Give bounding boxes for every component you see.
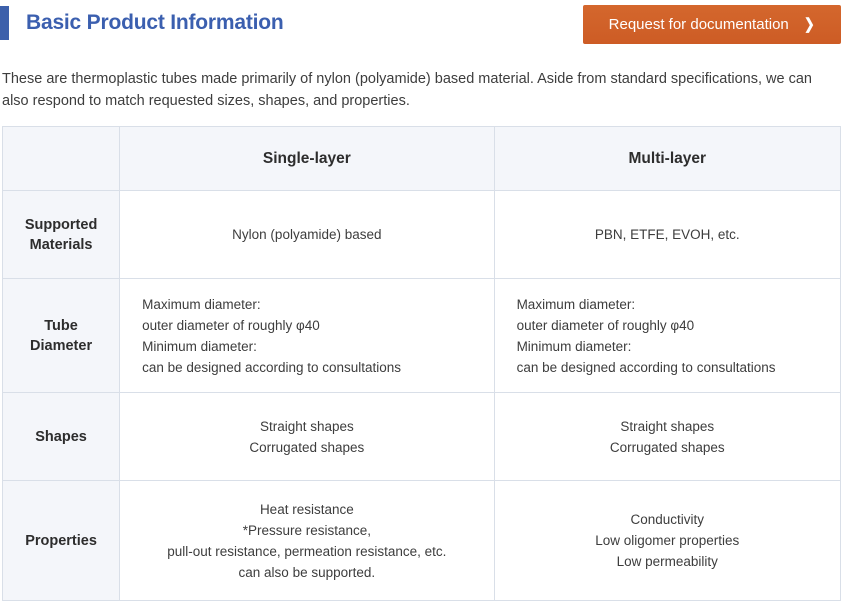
cell-supported-materials-single: Nylon (polyamide) based xyxy=(120,191,494,279)
cell-properties-single: Heat resistance*Pressure resistance,pull… xyxy=(120,481,494,601)
text-line: Low permeability xyxy=(495,551,840,572)
table-row: Shapes Straight shapesCorrugated shapes … xyxy=(3,393,841,481)
text-line: Minimum diameter: xyxy=(517,336,840,357)
table-row: TubeDiameter Maximum diameter:outer diam… xyxy=(3,279,841,393)
text-line: *Pressure resistance, xyxy=(120,520,493,541)
row-label-supported-materials: SupportedMaterials xyxy=(3,191,120,279)
cell-properties-multi: ConductivityLow oligomer propertiesLow p… xyxy=(494,481,840,601)
text-line: Materials xyxy=(3,235,119,255)
cell-tube-diameter-multi: Maximum diameter:outer diameter of rough… xyxy=(494,279,840,393)
cell-supported-materials-multi: PBN, ETFE, EVOH, etc. xyxy=(494,191,840,279)
page-header: Basic Product Information Request for do… xyxy=(0,0,847,50)
cell-shapes-multi: Straight shapesCorrugated shapes xyxy=(494,393,840,481)
table-row: SupportedMaterials Nylon (polyamide) bas… xyxy=(3,191,841,279)
table-header-single-layer: Single-layer xyxy=(120,127,494,191)
chevron-right-icon: ❯ xyxy=(804,17,815,32)
cell-tube-diameter-single: Maximum diameter:outer diameter of rough… xyxy=(120,279,494,393)
table-row: Properties Heat resistance*Pressure resi… xyxy=(3,481,841,601)
text-line: Straight shapes xyxy=(120,416,493,437)
text-line: Straight shapes xyxy=(495,416,840,437)
text-line: outer diameter of roughly φ40 xyxy=(142,315,493,336)
text-line: PBN, ETFE, EVOH, etc. xyxy=(495,224,840,245)
text-line: can also be supported. xyxy=(120,562,493,583)
page-title-group: Basic Product Information xyxy=(0,6,284,40)
text-line: Properties xyxy=(3,531,119,551)
text-line: Low oligomer properties xyxy=(495,530,840,551)
table-header-row: Single-layer Multi-layer xyxy=(3,127,841,191)
text-line: pull-out resistance, permeation resistan… xyxy=(120,541,493,562)
table-body: SupportedMaterials Nylon (polyamide) bas… xyxy=(3,191,841,601)
page-title: Basic Product Information xyxy=(26,11,284,35)
table-header-blank xyxy=(3,127,120,191)
text-line: can be designed according to consultatio… xyxy=(517,357,840,378)
text-line: Corrugated shapes xyxy=(120,437,493,458)
text-line: Tube xyxy=(3,316,119,336)
request-documentation-label: Request for documentation xyxy=(609,16,789,33)
row-label-tube-diameter: TubeDiameter xyxy=(3,279,120,393)
text-line: Heat resistance xyxy=(120,499,493,520)
text-line: Nylon (polyamide) based xyxy=(120,224,493,245)
cell-shapes-single: Straight shapesCorrugated shapes xyxy=(120,393,494,481)
text-line: Maximum diameter: xyxy=(517,294,840,315)
request-documentation-button[interactable]: Request for documentation ❯ xyxy=(583,5,841,44)
text-line: Conductivity xyxy=(495,509,840,530)
text-line: Shapes xyxy=(3,427,119,447)
text-line: Maximum diameter: xyxy=(142,294,493,315)
text-line: Diameter xyxy=(3,336,119,356)
intro-paragraph: These are thermoplastic tubes made prima… xyxy=(2,68,841,112)
row-label-properties: Properties xyxy=(3,481,120,601)
text-line: Supported xyxy=(3,215,119,235)
title-accent-bar-icon xyxy=(0,6,9,40)
table-header-multi-layer: Multi-layer xyxy=(494,127,840,191)
product-specification-table: Single-layer Multi-layer SupportedMateri… xyxy=(2,126,841,601)
row-label-shapes: Shapes xyxy=(3,393,120,481)
text-line: Minimum diameter: xyxy=(142,336,493,357)
text-line: can be designed according to consultatio… xyxy=(142,357,493,378)
text-line: outer diameter of roughly φ40 xyxy=(517,315,840,336)
text-line: Corrugated shapes xyxy=(495,437,840,458)
